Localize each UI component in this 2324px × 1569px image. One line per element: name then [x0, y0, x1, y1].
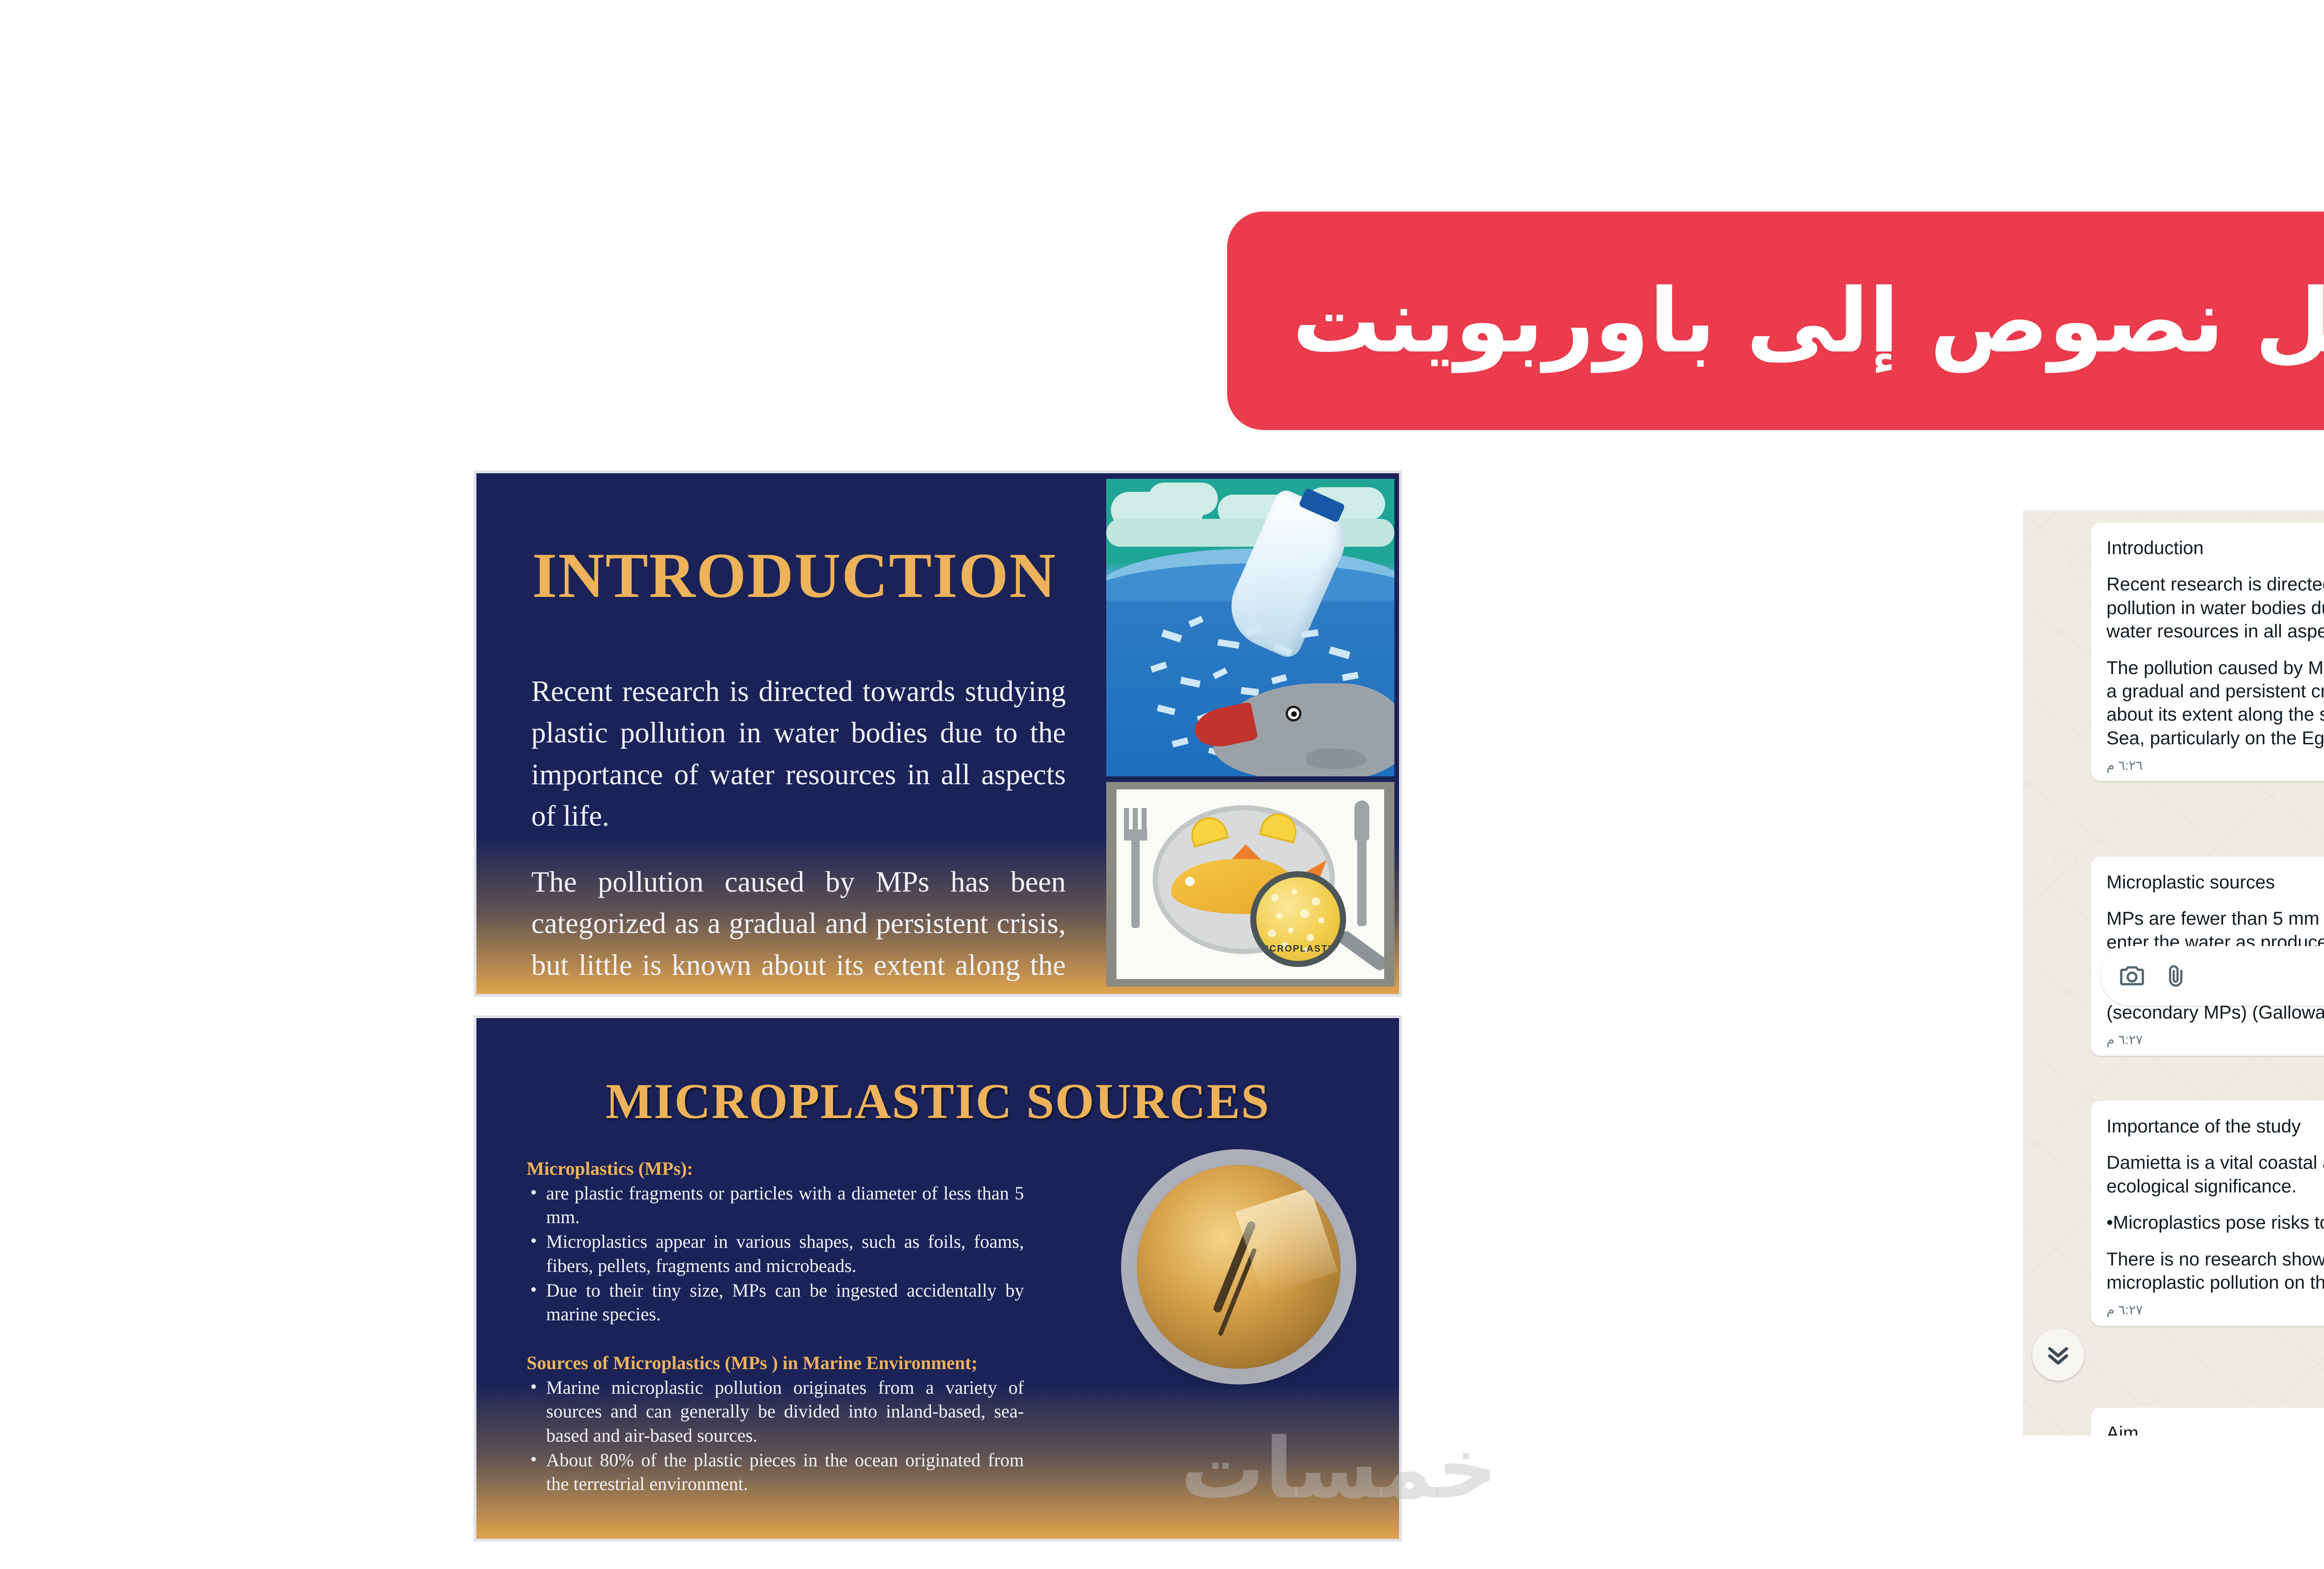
screenshot-root: تحويل نصوص إلى باوربوينت INTRODUCTION Re… — [0, 0, 2324, 1569]
fish-plate-magnifier-illustration: MICROPLASTIC — [1106, 782, 1394, 986]
message-line: Damietta is a vital coastal area with ec… — [2106, 1151, 2324, 1198]
message-line: Microplastic sources — [2106, 871, 2324, 894]
slide-introduction-paragraph: The pollution caused by MPs has been cat… — [531, 861, 1066, 994]
ocean-plastic-fish-illustration — [1106, 479, 1394, 776]
message-line: Importance of the study — [2106, 1115, 2324, 1138]
promo-banner-title: تحويل نصوص إلى باوربوينت — [1292, 272, 2324, 370]
chat-input-bar[interactable]: مراسلة — [2101, 946, 2324, 1006]
slide-deck: INTRODUCTION Recent research is directed… — [476, 473, 1399, 1540]
message-line: Aim — [2106, 1422, 2324, 1436]
message-timestamp: ٦:٢٧ م — [2106, 1032, 2324, 1048]
message-line: The pollution caused by MPs has been cat… — [2106, 656, 2324, 750]
slide-introduction-image-column: MICROPLASTIC — [1106, 479, 1394, 986]
list-item: Marine microplastic pollution originates… — [527, 1376, 1024, 1447]
message-timestamp: ٦:٢٧ م — [2106, 1302, 2324, 1318]
slide-introduction[interactable]: INTRODUCTION Recent research is directed… — [476, 473, 1399, 994]
magnifier-icon: MICROPLASTIC — [1250, 871, 1346, 967]
scroll-to-bottom-button[interactable] — [2032, 1329, 2084, 1381]
chat-bubble-importance[interactable]: Importance of the study Damietta is a vi… — [2091, 1101, 2324, 1326]
slide-microplastic-sources[interactable]: MICROPLASTIC SOURCES Microplastics (MPs)… — [476, 1018, 1399, 1539]
slide-introduction-paragraph: Recent research is directed towards stud… — [531, 671, 1066, 837]
fork-icon — [1131, 835, 1140, 928]
message-line: Recent research is directed towards stud… — [2106, 573, 2324, 643]
chat-bubble-aim[interactable]: Aim — [2091, 1408, 2324, 1436]
list-item: Due to their tiny size, MPs can be inges… — [527, 1278, 1024, 1326]
slide-introduction-title: INTRODUCTION — [532, 538, 1056, 612]
message-line: There is no research showing the percent… — [2106, 1248, 2324, 1295]
list-item: are plastic fragments or particles with … — [527, 1181, 1024, 1229]
list-item: About 80% of the plastic pieces in the o… — [527, 1448, 1024, 1496]
slide-sources-bullets-2: Marine microplastic pollution originates… — [527, 1376, 1024, 1496]
magnifier-label: MICROPLASTIC — [1256, 944, 1340, 954]
message-line: •Microplastics pose risks to marine life… — [2106, 1211, 2324, 1234]
slide-sources-heading-1: Microplastics (MPs): — [527, 1158, 1024, 1179]
slide-introduction-body: Recent research is directed towards stud… — [531, 671, 1066, 994]
slide-sources-heading-2: Sources of Microplastics (MPs ) in Marin… — [527, 1352, 1024, 1374]
promo-banner: تحويل نصوص إلى باوربوينت — [1227, 212, 2324, 430]
microscope-microplastic-fiber-photo — [1137, 1165, 1340, 1369]
message-timestamp: ٦:٢٦ م — [2106, 757, 2324, 774]
knife-icon — [1357, 834, 1367, 926]
list-item: Microplastics appear in various shapes, … — [527, 1230, 1024, 1277]
paperclip-icon[interactable] — [2162, 962, 2189, 989]
camera-icon[interactable] — [2118, 961, 2146, 990]
slide-sources-bullets-1: are plastic fragments or particles with … — [527, 1181, 1024, 1326]
slide-sources-body: Microplastics (MPs): are plastic fragmen… — [527, 1158, 1024, 1496]
chat-bubble-intro[interactable]: Introduction Recent research is directed… — [2091, 523, 2324, 781]
double-chevron-down-icon — [2044, 1340, 2073, 1369]
message-line: Introduction — [2106, 536, 2324, 560]
slide-sources-title: MICROPLASTIC SOURCES — [476, 1073, 1399, 1131]
